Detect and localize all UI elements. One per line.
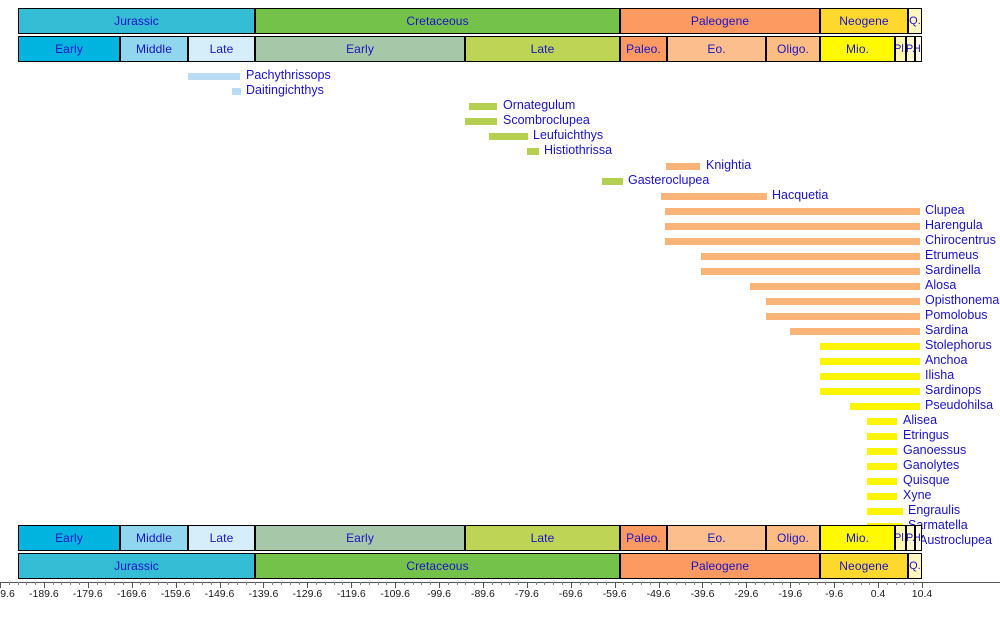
range-bar-ilisha[interactable] xyxy=(820,373,920,380)
range-bar-xyne[interactable] xyxy=(867,493,897,500)
axis-tick-minor xyxy=(597,582,598,585)
axis-tick-minor xyxy=(606,582,607,585)
axis-tick-minor xyxy=(255,582,256,585)
timescale-band-label: Neogene xyxy=(839,15,888,27)
axis-tick-label: -69.6 xyxy=(559,588,583,600)
timescale-band-cretaceous[interactable]: Cretaceous xyxy=(255,8,620,34)
range-bar-sardina[interactable] xyxy=(790,328,920,335)
axis-tick-minor xyxy=(755,582,756,585)
axis-tick-minor xyxy=(492,582,493,585)
range-label-daitingichthys: Daitingichthys xyxy=(246,83,324,98)
axis-tick-minor xyxy=(105,582,106,585)
axis-tick-minor xyxy=(325,582,326,585)
range-bar-gasteroclupea[interactable] xyxy=(602,178,623,185)
range-row[interactable]: Clupea xyxy=(0,204,1000,219)
axis-tick-minor xyxy=(694,582,695,585)
range-label-sardinops: Sardinops xyxy=(925,383,981,398)
axis-tick-minor xyxy=(299,582,300,585)
timescale-band-early-jurassic[interactable]: Early xyxy=(18,36,120,62)
timescale-band-label: Mio. xyxy=(846,43,869,55)
timescale-band-cretaceous[interactable]: Cretaceous xyxy=(255,553,620,579)
range-label-sardinella: Sardinella xyxy=(925,263,981,278)
timescale-band-eocene[interactable]: Eo. xyxy=(667,36,766,62)
range-label-ornategulum: Ornategulum xyxy=(503,98,575,113)
axis-tick-label: -199.6 xyxy=(0,588,15,600)
range-row[interactable]: Daitingichthys xyxy=(0,84,1000,99)
axis-tick-minor xyxy=(676,582,677,585)
axis-tick-minor xyxy=(9,582,10,585)
range-bar-harengula[interactable] xyxy=(665,223,920,230)
axis-tick-minor xyxy=(237,582,238,585)
timescale-band-label: Oligo. xyxy=(777,532,809,544)
range-row[interactable]: Ilisha xyxy=(0,369,1000,384)
timescale-band-paleocene[interactable]: Paleo. xyxy=(620,36,667,62)
axis-tick-minor xyxy=(808,582,809,585)
axis-tick-label: -59.6 xyxy=(603,588,627,600)
range-bar-opisthonema[interactable] xyxy=(766,298,920,305)
axis-tick-label: -139.6 xyxy=(249,588,279,600)
timescale-band-label: Pl. xyxy=(895,44,906,55)
range-bar-ganoessus[interactable] xyxy=(867,448,897,455)
timescale-band-label: Eo. xyxy=(707,532,725,544)
timescale-band-miocene[interactable]: Mio. xyxy=(820,525,895,551)
axis-tick-minor xyxy=(764,582,765,585)
range-bar-etrumeus[interactable] xyxy=(701,253,920,260)
timescale-band-label: Middle xyxy=(136,43,172,55)
axis-tick-label: 0.4 xyxy=(871,588,886,600)
timescale-band-paleogene[interactable]: Paleogene xyxy=(620,553,820,579)
range-row[interactable]: Leufuichthys xyxy=(0,129,1000,144)
range-label-clupea: Clupea xyxy=(925,203,965,218)
range-label-alisea: Alisea xyxy=(903,413,937,428)
range-row[interactable]: Ganoessus xyxy=(0,444,1000,459)
axis-tick-minor xyxy=(518,582,519,585)
axis-tick-minor xyxy=(97,582,98,585)
axis-tick-minor xyxy=(448,582,449,585)
range-bar-ornategulum[interactable] xyxy=(469,103,497,110)
timescale-band-pleistocene[interactable]: P. xyxy=(906,36,915,62)
range-bar-leufuichthys[interactable] xyxy=(489,133,528,140)
range-bar-daitingichthys[interactable] xyxy=(232,88,241,95)
range-bar-anchoa[interactable] xyxy=(820,358,920,365)
range-label-gasteroclupea: Gasteroclupea xyxy=(628,173,709,188)
axis-tick-label: -49.6 xyxy=(647,588,671,600)
axis-tick-label: -129.6 xyxy=(292,588,322,600)
axis-tick-minor xyxy=(852,582,853,585)
timescale-band-label: Pl. xyxy=(895,533,906,544)
timescale-band-early-jurassic[interactable]: Early xyxy=(18,525,120,551)
range-row[interactable]: Pomolobus xyxy=(0,309,1000,324)
axis-tick-minor xyxy=(61,582,62,585)
axis-tick-minor xyxy=(114,582,115,585)
range-label-engraulis: Engraulis xyxy=(908,503,960,518)
timescale-band-label: Mio. xyxy=(846,532,869,544)
axis-tick-minor xyxy=(825,582,826,585)
axis-tick-minor xyxy=(465,582,466,585)
timescale-band-label: P. xyxy=(906,533,915,544)
axis-tick-minor xyxy=(369,582,370,585)
timescale-band-middle-jurassic[interactable]: Middle xyxy=(120,525,188,551)
range-row[interactable]: Anchoa xyxy=(0,354,1000,369)
range-row[interactable]: Stolephorus xyxy=(0,339,1000,354)
axis-tick-minor xyxy=(817,582,818,585)
range-bar-scombroclupea[interactable] xyxy=(465,118,497,125)
timescale-band-late-cretaceous[interactable]: Late xyxy=(465,525,620,551)
range-row[interactable]: Etringus xyxy=(0,429,1000,444)
axis-tick-minor xyxy=(430,582,431,585)
range-label-etringus: Etringus xyxy=(903,428,949,443)
axis-tick-minor xyxy=(509,582,510,585)
axis-tick-label: -39.6 xyxy=(691,588,715,600)
range-row[interactable]: Pachythrissops xyxy=(0,69,1000,84)
range-row[interactable]: Knightia xyxy=(0,159,1000,174)
range-bar-alosa[interactable] xyxy=(750,283,920,290)
axis-tick-minor xyxy=(281,582,282,585)
timescale-band-pleistocene[interactable]: P. xyxy=(906,525,915,551)
timescale-band-label: Early xyxy=(55,532,83,544)
range-label-ilisha: Ilisha xyxy=(925,368,954,383)
range-label-stolephorus: Stolephorus xyxy=(925,338,992,353)
range-row[interactable]: Gasteroclupea xyxy=(0,174,1000,189)
timescale-band-label: Early xyxy=(346,532,374,544)
axis-tick-minor xyxy=(334,582,335,585)
timescale-band-label: Late xyxy=(210,532,234,544)
axis-tick-minor xyxy=(536,582,537,585)
range-label-alosa: Alosa xyxy=(925,278,956,293)
axis-tick-minor xyxy=(720,582,721,585)
timescale-band-label: Cretaceous xyxy=(406,560,468,572)
axis-tick-minor xyxy=(184,582,185,585)
axis-tick-minor xyxy=(211,582,212,585)
axis-tick-minor xyxy=(650,582,651,585)
axis-tick-minor xyxy=(887,582,888,585)
axis-tick-minor xyxy=(413,582,414,585)
range-row[interactable]: Sardinops xyxy=(0,384,1000,399)
axis-tick-minor xyxy=(167,582,168,585)
timescale-band-jurassic[interactable]: Jurassic xyxy=(18,8,255,34)
range-row[interactable]: Etrumeus xyxy=(0,249,1000,264)
range-label-pachythrissops: Pachythrissops xyxy=(246,68,331,83)
timescale-band-label: Paleo. xyxy=(626,532,661,544)
timescale-band-paleogene[interactable]: Paleogene xyxy=(620,8,820,34)
axis-tick-label: -99.6 xyxy=(427,588,451,600)
range-bar-engraulis[interactable] xyxy=(867,508,903,515)
axis-tick-minor xyxy=(378,582,379,585)
timescale-band-label: Jurassic xyxy=(114,560,159,572)
axis-tick-minor xyxy=(623,582,624,585)
axis-tick-minor xyxy=(342,582,343,585)
timescale-band-holocene[interactable]: H. xyxy=(915,36,922,62)
timescale-band-late-jurassic[interactable]: Late xyxy=(188,36,255,62)
axis-tick-minor xyxy=(553,582,554,585)
range-row[interactable]: Sardina xyxy=(0,324,1000,339)
timescale-band-label: Late xyxy=(531,532,555,544)
axis-tick-label: -9.6 xyxy=(825,588,843,600)
timescale-band-oligocene[interactable]: Oligo. xyxy=(766,36,820,62)
range-label-pomolobus: Pomolobus xyxy=(925,308,988,323)
axis-tick-minor xyxy=(580,582,581,585)
range-bar-alisea[interactable] xyxy=(867,418,897,425)
timescale-band-quaternary[interactable]: Q. xyxy=(908,8,922,34)
timescale-band-label: Paleogene xyxy=(691,560,749,572)
axis-tick-label: -19.6 xyxy=(778,588,802,600)
timescale-band-label: Late xyxy=(210,43,234,55)
range-row[interactable]: Scombroclupea xyxy=(0,114,1000,129)
range-bar-stolephorus[interactable] xyxy=(820,343,920,350)
timescale-band-jurassic[interactable]: Jurassic xyxy=(18,553,255,579)
range-bar-sardinella[interactable] xyxy=(701,268,920,275)
axis-tick-minor xyxy=(421,582,422,585)
range-label-sardina: Sardina xyxy=(925,323,968,338)
axis-tick-minor xyxy=(149,582,150,585)
axis-tick-minor xyxy=(193,582,194,585)
range-row[interactable]: Ganolytes xyxy=(0,459,1000,474)
axis-tick-minor xyxy=(562,582,563,585)
axis-tick-label: -119.6 xyxy=(337,588,366,600)
timescale-band-oligocene[interactable]: Oligo. xyxy=(766,525,820,551)
timescale-bottom-epoch-row: EarlyMiddleLateEarlyLatePaleo.Eo.Oligo.M… xyxy=(0,525,1000,551)
timescale-band-label: Early xyxy=(55,43,83,55)
range-label-pseudohilsa: Pseudohilsa xyxy=(925,398,993,413)
range-bar-chirocentrus[interactable] xyxy=(665,238,920,245)
axis-tick-minor xyxy=(632,582,633,585)
range-bar-histiothrissa[interactable] xyxy=(527,148,539,155)
range-label-ganoessus: Ganoessus xyxy=(903,443,966,458)
range-row[interactable]: Chirocentrus xyxy=(0,234,1000,249)
timescale-band-label: Eo. xyxy=(707,43,725,55)
axis-tick-label: 10.4 xyxy=(912,588,932,600)
axis-tick-minor xyxy=(773,582,774,585)
range-bar-clupea[interactable] xyxy=(665,208,920,215)
timescale-band-label: Jurassic xyxy=(114,15,159,27)
axis-tick-label: -159.6 xyxy=(161,588,191,600)
range-label-chirocentrus: Chirocentrus xyxy=(925,233,996,248)
timescale-band-late-jurassic[interactable]: Late xyxy=(188,525,255,551)
range-bar-etringus[interactable] xyxy=(867,433,897,440)
range-bar-knightia[interactable] xyxy=(666,163,700,170)
range-bar-pseudohilsa[interactable] xyxy=(850,403,920,410)
range-row[interactable]: Opisthonema xyxy=(0,294,1000,309)
timescale-band-label: H. xyxy=(915,44,922,55)
axis-tick-minor xyxy=(228,582,229,585)
range-label-scombroclupea: Scombroclupea xyxy=(503,113,590,128)
timescale-band-paleocene[interactable]: Paleo. xyxy=(620,525,667,551)
axis-tick-minor xyxy=(35,582,36,585)
timescale-band-label: Q. xyxy=(909,561,921,572)
range-row[interactable]: Quisque xyxy=(0,474,1000,489)
range-label-etrumeus: Etrumeus xyxy=(925,248,979,263)
axis-tick-minor xyxy=(667,582,668,585)
range-bar-hacquetia[interactable] xyxy=(661,193,767,200)
timescale-band-neogene[interactable]: Neogene xyxy=(820,553,908,579)
timescale-band-label: P. xyxy=(906,44,915,55)
axis-tick-minor xyxy=(316,582,317,585)
axis-tick-minor xyxy=(782,582,783,585)
range-row[interactable]: Alisea xyxy=(0,414,1000,429)
timescale-band-holocene[interactable]: H. xyxy=(915,525,922,551)
axis-tick-minor xyxy=(140,582,141,585)
range-label-quisque: Quisque xyxy=(903,473,950,488)
axis-tick-minor xyxy=(123,582,124,585)
range-bar-pachythrissops[interactable] xyxy=(188,73,240,80)
axis-tick-minor xyxy=(685,582,686,585)
timescale-band-label: H. xyxy=(915,533,922,544)
axis-tick-minor xyxy=(158,582,159,585)
timescale-band-quaternary[interactable]: Q. xyxy=(908,553,922,579)
timescale-band-early-cretaceous[interactable]: Early xyxy=(255,525,465,551)
range-bar-sardinops[interactable] xyxy=(820,388,920,395)
timescale-band-label: Paleo. xyxy=(626,43,661,55)
axis-tick-minor xyxy=(843,582,844,585)
timescale-band-label: Paleogene xyxy=(691,15,749,27)
range-row[interactable]: Alosa xyxy=(0,279,1000,294)
range-row[interactable]: Sardinella xyxy=(0,264,1000,279)
axis-tick-minor xyxy=(861,582,862,585)
axis-tick-minor xyxy=(869,582,870,585)
timescale-band-neogene[interactable]: Neogene xyxy=(820,8,908,34)
axis-tick-minor xyxy=(246,582,247,585)
range-label-histiothrissa: Histiothrissa xyxy=(544,143,612,158)
axis-tick-minor xyxy=(641,582,642,585)
range-label-anchoa: Anchoa xyxy=(925,353,967,368)
timescale-band-pliocene[interactable]: Pl. xyxy=(895,36,906,62)
axis-tick-minor xyxy=(360,582,361,585)
axis-tick-minor xyxy=(588,582,589,585)
timescale-band-middle-jurassic[interactable]: Middle xyxy=(120,36,188,62)
timescale-band-label: Neogene xyxy=(839,560,888,572)
axis-tick-minor xyxy=(738,582,739,585)
timescale-bottom-period-row: JurassicCretaceousPaleogeneNeogeneQ. xyxy=(0,553,1000,579)
axis-tick-minor xyxy=(79,582,80,585)
axis-tick-label: -109.6 xyxy=(380,588,410,600)
axis-tick-label: -79.6 xyxy=(515,588,539,600)
range-bar-quisque[interactable] xyxy=(867,478,897,485)
range-row[interactable]: Xyne xyxy=(0,489,1000,504)
axis-tick-minor xyxy=(290,582,291,585)
timescale-band-miocene[interactable]: Mio. xyxy=(820,36,895,62)
axis-tick-minor xyxy=(799,582,800,585)
timescale-band-label: Oligo. xyxy=(777,43,809,55)
range-row[interactable]: Histiothrissa xyxy=(0,144,1000,159)
timescale-band-late-cretaceous[interactable]: Late xyxy=(465,36,620,62)
range-row[interactable]: Hacquetia xyxy=(0,189,1000,204)
axis-tick-minor xyxy=(53,582,54,585)
range-label-ganolytes: Ganolytes xyxy=(903,458,959,473)
timescale-top-period-row: JurassicCretaceousPaleogeneNeogeneQ. xyxy=(0,8,1000,34)
range-bar-ganolytes[interactable] xyxy=(867,463,897,470)
range-row[interactable]: Ornategulum xyxy=(0,99,1000,114)
timescale-band-label: Cretaceous xyxy=(406,15,468,27)
timescale-band-early-cretaceous[interactable]: Early xyxy=(255,36,465,62)
range-label-xyne: Xyne xyxy=(903,488,932,503)
time-axis: -199.6-189.6-179.6-169.6-159.6-149.6-139… xyxy=(0,582,1000,630)
axis-tick-label: -169.6 xyxy=(117,588,147,600)
timescale-band-pliocene[interactable]: Pl. xyxy=(895,525,906,551)
axis-tick-minor xyxy=(386,582,387,585)
range-bar-pomolobus[interactable] xyxy=(766,313,920,320)
axis-tick-minor xyxy=(202,582,203,585)
axis-tick-minor xyxy=(474,582,475,585)
axis-tick-label: -89.6 xyxy=(471,588,495,600)
axis-tick-label: -189.6 xyxy=(29,588,59,600)
range-row[interactable]: Pseudohilsa xyxy=(0,399,1000,414)
axis-tick-label: -179.6 xyxy=(73,588,103,600)
range-label-leufuichthys: Leufuichthys xyxy=(533,128,603,143)
axis-tick-minor xyxy=(404,582,405,585)
timescale-band-label: Late xyxy=(531,43,555,55)
axis-tick-minor xyxy=(904,582,905,585)
timescale-band-label: Early xyxy=(346,43,374,55)
timescale-top-epoch-row: EarlyMiddleLateEarlyLatePaleo.Eo.Oligo.M… xyxy=(0,36,1000,62)
axis-tick-minor xyxy=(711,582,712,585)
range-label-opisthonema: Opisthonema xyxy=(925,293,999,308)
axis-tick-minor xyxy=(457,582,458,585)
axis-tick-minor xyxy=(272,582,273,585)
axis-tick-minor xyxy=(729,582,730,585)
range-bars-plot-area: PachythrissopsDaitingichthysOrnategulumS… xyxy=(0,60,1000,520)
timescale-band-label: Q. xyxy=(909,16,921,27)
stratigraphic-range-chart: JurassicCretaceousPaleogeneNeogeneQ. Ear… xyxy=(0,0,1000,630)
axis-tick-minor xyxy=(70,582,71,585)
axis-tick-minor xyxy=(544,582,545,585)
axis-tick-minor xyxy=(913,582,914,585)
range-label-harengula: Harengula xyxy=(925,218,983,233)
range-row[interactable]: Engraulis xyxy=(0,504,1000,519)
range-row[interactable]: Harengula xyxy=(0,219,1000,234)
timescale-band-label: Middle xyxy=(136,532,172,544)
axis-tick-label: -149.6 xyxy=(205,588,235,600)
axis-tick-label: -29.6 xyxy=(734,588,758,600)
range-label-knightia: Knightia xyxy=(706,158,751,173)
timescale-band-eocene[interactable]: Eo. xyxy=(667,525,766,551)
range-label-hacquetia: Hacquetia xyxy=(772,188,828,203)
axis-tick-minor xyxy=(26,582,27,585)
axis-tick-minor xyxy=(896,582,897,585)
axis-tick-minor xyxy=(501,582,502,585)
axis-tick-minor xyxy=(18,582,19,585)
